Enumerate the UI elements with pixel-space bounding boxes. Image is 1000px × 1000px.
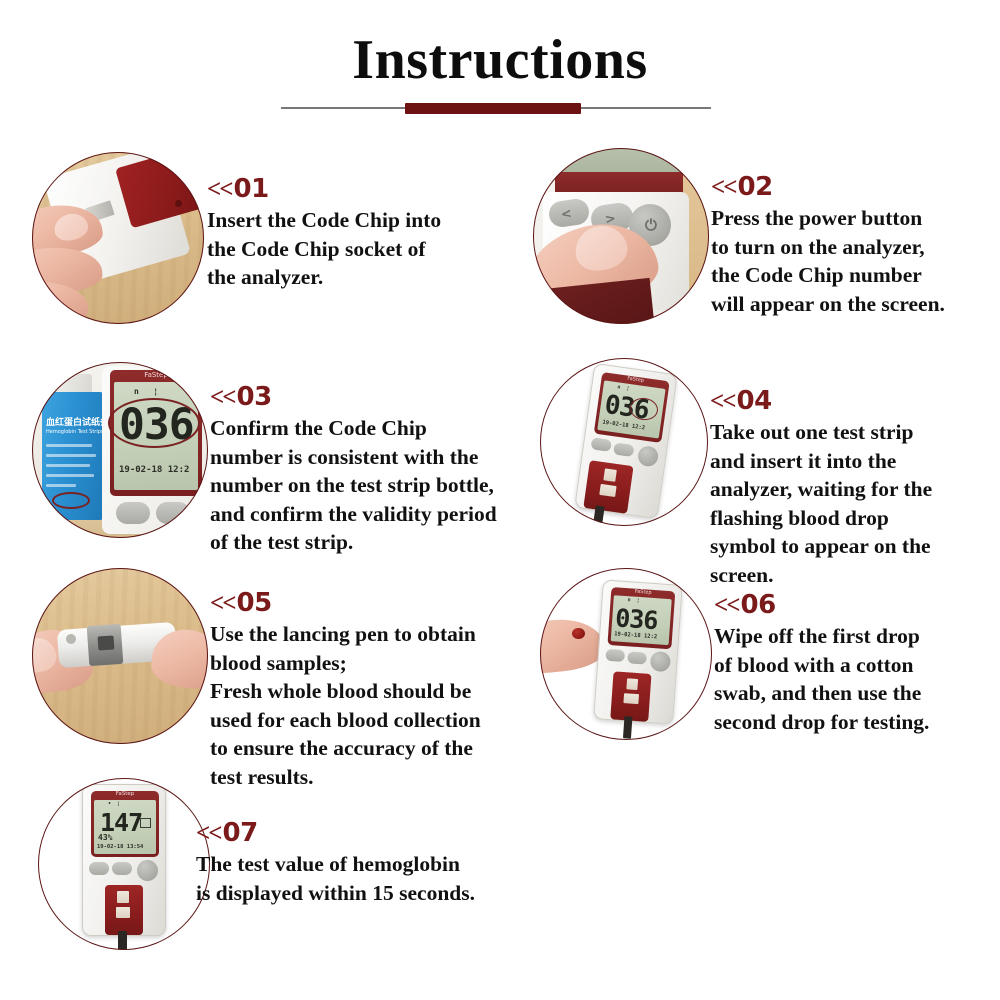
step-02-body: Press the power button to turn on the an…: [711, 204, 1000, 318]
step-01-body: Insert the Code Chip into the Code Chip …: [207, 206, 492, 292]
analyzer-button-left[interactable]: [89, 862, 109, 875]
test-strip-top: [626, 678, 638, 690]
step-05-text: <<05 Use the lancing pen to obtain blood…: [210, 590, 555, 792]
test-strip-mid: [116, 907, 130, 918]
analyzer-brand-label: FaStep: [91, 792, 159, 798]
step-03: 血红蛋白试纸条 Hemoglobin Test Strips FaStep n …: [32, 362, 552, 552]
lcd-battery-icon: [140, 818, 151, 828]
step-01-number: <<01: [207, 176, 492, 202]
analyzer-button-left[interactable]: [591, 437, 612, 452]
step-02-text: <<02 Press the power button to turn on t…: [711, 174, 1000, 318]
analyzer-button-middle[interactable]: [112, 862, 132, 875]
step-04-text: <<04 Take out one test strip and insert …: [710, 388, 1000, 590]
analyzer-power-button[interactable]: [137, 860, 158, 881]
step-06: FaStep n ¦ 036 19-02-18 12:2: [540, 568, 1000, 753]
step-04-body: Take out one test strip and insert it in…: [710, 418, 1000, 590]
bottle-info-line-5: [46, 484, 76, 487]
page-title: Instructions: [0, 32, 1000, 88]
lancing-pen-window: [98, 635, 115, 650]
step-01-photo: [32, 152, 204, 324]
step-03-photo: 血红蛋白试纸条 Hemoglobin Test Strips FaStep n …: [32, 362, 208, 538]
step-07-digits: 07: [223, 818, 258, 848]
analyzer-screw-hole: [175, 200, 182, 207]
step-06-text: <<06 Wipe off the first drop of blood wi…: [714, 592, 1000, 736]
step-03-body: Confirm the Code Chip number is consiste…: [210, 414, 555, 557]
lcd-datetime: 19-02-18 13:54: [97, 845, 143, 851]
test-strip-mid: [599, 484, 616, 497]
step-02-photo: < > ⏻: [533, 148, 709, 324]
bottle-info-line-3: [46, 464, 90, 467]
lcd-top-icons: • ¦: [108, 802, 120, 807]
step-05-digits: 05: [237, 588, 272, 618]
scene-analyzer-result: FaStep • ¦ 147 43% 19-02-18 13:54: [38, 778, 210, 950]
lcd-hct-value: 43%: [98, 834, 112, 842]
analyzer-button-middle[interactable]: [613, 442, 634, 457]
step-06-chevron: <<: [714, 592, 739, 619]
instructions-page: Instructions: [0, 0, 1000, 1000]
test-strip-tip: [118, 931, 127, 950]
bottle-info-line-2: [46, 454, 96, 457]
analyzer-lcd: n ¦ 036 19-02-18 12:2: [611, 595, 672, 645]
step-04-photo: FaStep n ¦ 036 19-02-18 12:2: [540, 358, 708, 526]
step-07-number: <<07: [196, 820, 546, 846]
step-05-number: <<05: [210, 590, 555, 616]
test-strip-tip: [623, 716, 633, 739]
analyzer-power-button[interactable]: [650, 651, 671, 672]
step-07-photo: FaStep • ¦ 147 43% 19-02-18 13:54: [38, 778, 210, 950]
power-icon: ⏻: [645, 216, 657, 234]
step-07-body: The test value of hemoglobin is displaye…: [196, 850, 546, 907]
analyzer-button-left[interactable]: [116, 502, 150, 524]
step-01-text: <<01 Insert the Code Chip into the Code …: [207, 176, 492, 292]
step-04-number: <<04: [710, 388, 1000, 414]
scene-finger-blood-drop-and-analyzer: FaStep n ¦ 036 19-02-18 12:2: [540, 568, 712, 740]
title-divider: [281, 103, 711, 115]
step-06-number: <<06: [714, 592, 1000, 618]
step-06-digits: 06: [741, 590, 776, 620]
lcd-datetime: 19-02-18 12:2: [614, 632, 657, 640]
step-06-body: Wipe off the first drop of blood with a …: [714, 622, 1000, 736]
scene-analyzer-with-strip: FaStep n ¦ 036 19-02-18 12:2: [540, 358, 708, 526]
step-07: FaStep • ¦ 147 43% 19-02-18 13:54: [38, 778, 558, 958]
step-01-digits: 01: [234, 174, 269, 204]
step-05-body: Use the lancing pen to obtain blood samp…: [210, 620, 555, 792]
analyzer-body: FaStep • ¦ 147 43% 19-02-18 13:54: [82, 784, 166, 936]
scene-bottle-and-display: 血红蛋白试纸条 Hemoglobin Test Strips FaStep n …: [32, 362, 208, 538]
divider-accent-bar: [405, 103, 581, 114]
step-03-number: <<03: [210, 384, 555, 410]
analyzer-brand-label: FaStep: [110, 372, 202, 379]
step-03-digits: 03: [237, 382, 272, 412]
lcd-code-value: 036: [614, 605, 658, 633]
step-05: <<05 Use the lancing pen to obtain blood…: [32, 568, 552, 768]
step-02-number: <<02: [711, 174, 1000, 200]
analyzer-power-button[interactable]: [637, 445, 660, 468]
scene-hand-inserting-code-chip: [32, 152, 204, 324]
step-02: < > ⏻ <<02 Press the power button to tur…: [533, 148, 998, 333]
step-03-text: <<03 Confirm the Code Chip number is con…: [210, 384, 555, 557]
bottle-label-cn: 血红蛋白试纸条: [46, 418, 109, 428]
lcd-hemoglobin-value: 147: [100, 810, 142, 835]
analyzer-body: FaStep n ¦ 036 19-02-18 12:2: [593, 579, 683, 724]
step-04: FaStep n ¦ 036 19-02-18 12:2: [540, 358, 1000, 558]
step-05-photo: [32, 568, 208, 744]
test-strip-top: [603, 468, 617, 482]
test-strip-top: [117, 891, 129, 903]
scene-lancing-pen-on-finger: [32, 568, 208, 744]
step-04-chevron: <<: [710, 388, 735, 415]
analyzer-lcd: • ¦ 147 43% 19-02-18 13:54: [94, 800, 156, 854]
lcd-top-icons: n ¦: [627, 598, 639, 604]
analyzer-button-left[interactable]: [605, 649, 625, 662]
blood-drop: [572, 628, 585, 639]
bottle-info-line-1: [46, 444, 92, 447]
step-07-chevron: <<: [196, 820, 221, 847]
bottle-code-annotation: [52, 492, 90, 509]
step-05-chevron: <<: [210, 590, 235, 617]
step-04-digits: 04: [737, 386, 772, 416]
left-arrow-icon: <: [560, 206, 573, 222]
step-07-text: <<07 The test value of hemoglobin is dis…: [196, 820, 546, 907]
step-03-chevron: <<: [210, 384, 235, 411]
step-06-photo: FaStep n ¦ 036 19-02-18 12:2: [540, 568, 712, 740]
page-header: Instructions: [0, 0, 1000, 125]
test-strip-mid: [623, 693, 639, 704]
step-01-chevron: <<: [207, 176, 232, 203]
scene-thumb-pressing-power-button: < > ⏻: [533, 148, 709, 324]
lcd-code-annotation: [108, 398, 200, 448]
step-02-digits: 02: [738, 172, 773, 202]
bottle-label-en: Hemoglobin Test Strips: [46, 430, 104, 436]
bottle-info-line-4: [46, 474, 94, 477]
step-01: <<01 Insert the Code Chip into the Code …: [32, 152, 492, 332]
analyzer-button-right[interactable]: [156, 502, 190, 524]
analyzer-button-middle[interactable]: [627, 651, 647, 664]
step-02-chevron: <<: [711, 174, 736, 201]
lcd-datetime: 19-02-18 12:2: [119, 466, 189, 475]
lcd-top-icons: n ¦: [134, 388, 158, 396]
